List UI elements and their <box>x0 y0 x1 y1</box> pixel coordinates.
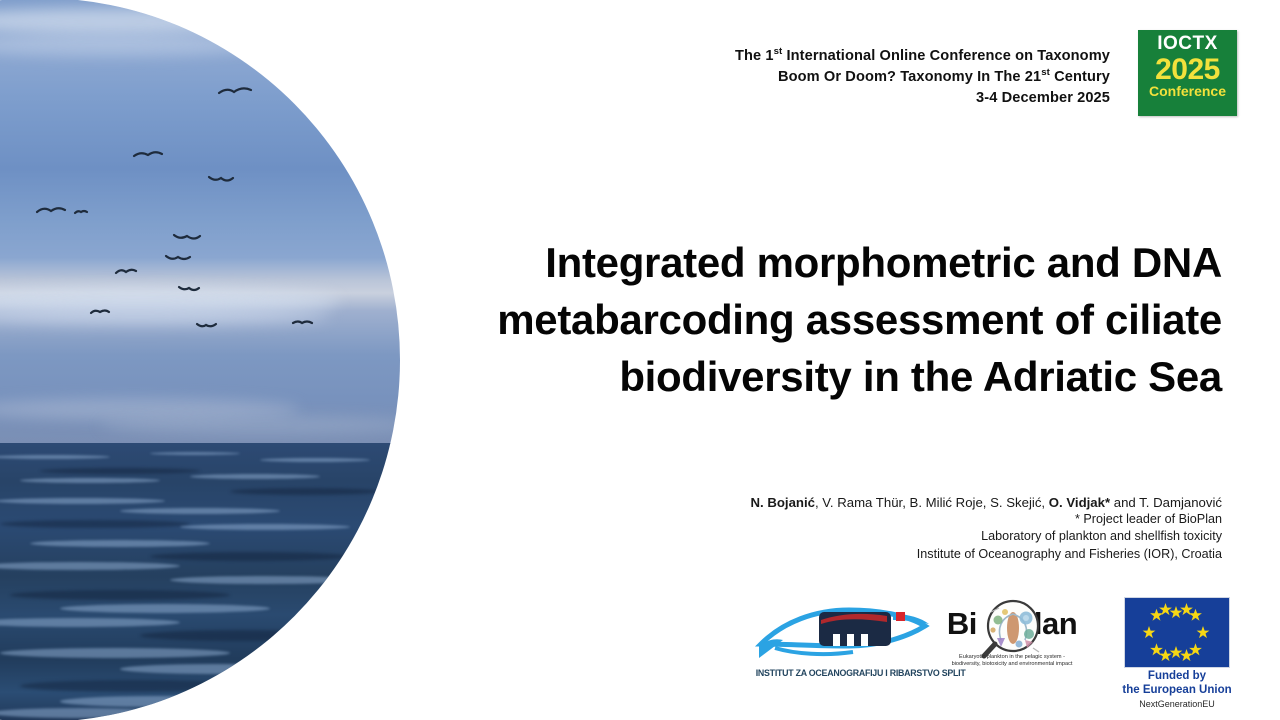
ior-logo: INSTITUT ZA OCEANOGRAFIJU I RIBARSTVO SP… <box>753 596 933 690</box>
bird-icon <box>178 283 200 294</box>
magnifier-plankton-icon <box>981 598 1045 660</box>
hero-photo <box>0 0 400 720</box>
author-corresponding: O. Vidjak* <box>1049 495 1110 510</box>
logo-row: INSTITUT ZA OCEANOGRAFIJU I RIBARSTVO SP… <box>745 592 1245 696</box>
hero-photo-ellipse-mask <box>0 0 400 720</box>
bird-icon <box>196 320 217 330</box>
eu-flag <box>1124 597 1230 668</box>
bird-icon <box>133 148 163 162</box>
ior-caption: INSTITUT ZA OCEANOGRAFIJU I RIBARSTVO SP… <box>756 668 931 678</box>
bioplan-word-start: Bi <box>947 606 977 641</box>
eu-funding-logo: Funded by the European Union NextGenerat… <box>1107 594 1247 694</box>
hero-photo-image <box>0 0 400 720</box>
author-tail: and T. Damjanović <box>1110 495 1222 510</box>
bioplan-subtitle-line2: biodiversity, biotoxicity and environmen… <box>937 661 1087 668</box>
sky-region <box>0 0 400 444</box>
bird-icon <box>208 173 234 186</box>
eu-caption-line1: Funded by <box>1107 670 1247 684</box>
conference-logo-year: 2025 <box>1138 54 1237 86</box>
conference-line-1: The 1st International Online Conference … <box>650 46 1110 67</box>
author-middle: , V. Rama Thür, B. Milić Roje, S. Skejić… <box>815 495 1049 510</box>
author-note: * Project leader of BioPlan <box>500 511 1222 528</box>
bird-icon <box>292 318 313 328</box>
authors-block: N. Bojanić, V. Rama Thür, B. Milić Roje,… <box>500 494 1222 563</box>
conference-logo-subtitle: Conference <box>1138 83 1237 100</box>
bioplan-logo: BiooPlan Eukaryotic <box>937 596 1087 690</box>
laboratory-name: Laboratory of plankton and shellfish tox… <box>500 528 1222 545</box>
bird-icon <box>173 231 201 244</box>
eu-funding-caption: Funded by the European Union NextGenerat… <box>1107 670 1247 710</box>
author-lead: N. Bojanić <box>750 495 814 510</box>
eu-caption-line3: NextGenerationEU <box>1107 698 1247 710</box>
cloud-streak <box>100 416 400 434</box>
eu-stars <box>1125 598 1227 665</box>
author-list: N. Bojanić, V. Rama Thür, B. Milić Roje,… <box>500 494 1222 511</box>
institute-name: Institute of Oceanography and Fisheries … <box>500 546 1222 563</box>
bird-icon <box>74 208 88 216</box>
conference-header: The 1st International Online Conference … <box>650 46 1110 109</box>
bird-icon <box>165 252 191 264</box>
bird-icon <box>115 266 137 277</box>
ior-fish-icon <box>753 596 933 666</box>
conference-dates: 3-4 December 2025 <box>650 88 1110 109</box>
bird-icon <box>218 84 252 100</box>
eu-caption-line2: the European Union <box>1107 684 1247 698</box>
bioplan-subtitle-line1: Eukaryotic plankton in the pelagic syste… <box>937 654 1087 661</box>
slide-root: The 1st International Online Conference … <box>0 0 1280 720</box>
presentation-title: Integrated morphometric and DNA metabarc… <box>430 234 1222 405</box>
conference-line-2: Boom Or Doom? Taxonomy In The 21st Centu… <box>650 67 1110 88</box>
bird-icon <box>90 307 110 317</box>
bird-icon <box>36 203 66 217</box>
bioplan-subtitle: Eukaryotic plankton in the pelagic syste… <box>937 654 1087 669</box>
conference-logo: IOCTX 2025 Conference <box>1138 30 1237 116</box>
